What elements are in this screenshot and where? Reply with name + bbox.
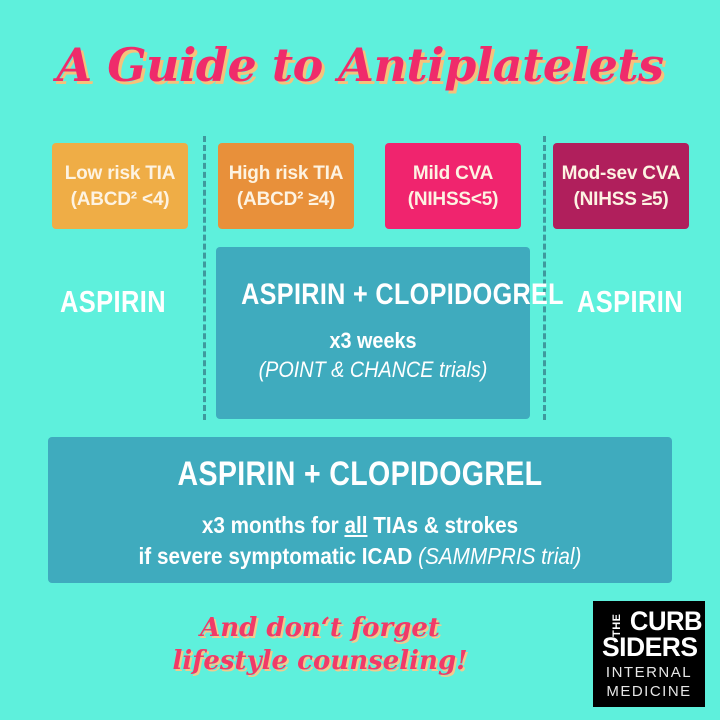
category-label-line1: Low risk TIA <box>65 161 176 186</box>
treatment-box-dual-antiplatelet-3-weeks: ASPIRIN + CLOPIDOGREL x3 weeks (POINT & … <box>216 247 530 419</box>
duration-prefix: x3 months for <box>202 512 345 538</box>
category-label-line1: Mild CVA <box>413 161 493 186</box>
category-box-low-risk-tia: Low risk TIA (ABCD² <4) <box>52 143 188 229</box>
logo-top-row: THE CURB <box>600 609 704 633</box>
infographic-canvas: A Guide to Antiplatelets Low risk TIA (A… <box>0 0 720 720</box>
category-box-high-risk-tia: High risk TIA (ABCD² ≥4) <box>218 143 354 229</box>
treatment-duration: x3 weeks <box>232 328 515 354</box>
indication-text: if severe symptomatic ICAD <box>139 543 419 569</box>
curbsiders-logo: THE CURB SIDERS INTERNAL MEDICINE <box>593 601 705 707</box>
logo-siders-text: SIDERS <box>602 634 698 660</box>
dashed-divider-left <box>203 136 206 420</box>
category-box-mild-cva: Mild CVA (NIHSS<5) <box>385 143 521 229</box>
category-label-line1: Mod-sev CVA <box>562 161 681 186</box>
category-label-line2: (NIHSS ≥5) <box>574 187 669 212</box>
treatment-heading: ASPIRIN + CLOPIDOGREL <box>241 278 505 312</box>
logo-medicine-text: MEDICINE <box>593 683 705 700</box>
page-title: A Guide to Antiplatelets <box>0 38 720 92</box>
treatment-trial-note: (POINT & CHANCE trials) <box>232 357 515 383</box>
category-label-line1: High risk TIA <box>229 161 344 186</box>
footer-slogan-line2: lifestyle counseling! <box>70 645 570 678</box>
duration-emphasis: all <box>344 512 367 538</box>
treatment-heading: ASPIRIN + CLOPIDOGREL <box>98 455 622 494</box>
footer-slogan-line1: And don‘t forget <box>70 612 570 645</box>
footer-slogan: And don‘t forget lifestyle counseling! <box>70 612 570 678</box>
duration-suffix: TIAs & strokes <box>367 512 518 538</box>
category-label-line2: (ABCD² ≥4) <box>237 187 335 212</box>
treatment-label-aspirin-right: ASPIRIN <box>563 283 697 321</box>
treatment-box-dual-antiplatelet-3-months: ASPIRIN + CLOPIDOGREL x3 months for all … <box>48 437 672 583</box>
treatment-label-aspirin-left: ASPIRIN <box>43 283 182 321</box>
category-label-line2: (ABCD² <4) <box>71 187 170 212</box>
category-label-line2: (NIHSS<5) <box>408 187 499 212</box>
treatment-indication-line: if severe symptomatic ICAD (SAMMPRIS tri… <box>79 543 641 570</box>
treatment-duration-line: x3 months for all TIAs & strokes <box>79 512 641 539</box>
logo-curb-text: CURB <box>629 609 701 633</box>
logo-internal-text: INTERNAL <box>593 664 705 681</box>
treatment-trial-note: (SAMMPRIS trial) <box>418 543 581 569</box>
category-box-mod-sev-cva: Mod-sev CVA (NIHSS ≥5) <box>553 143 689 229</box>
